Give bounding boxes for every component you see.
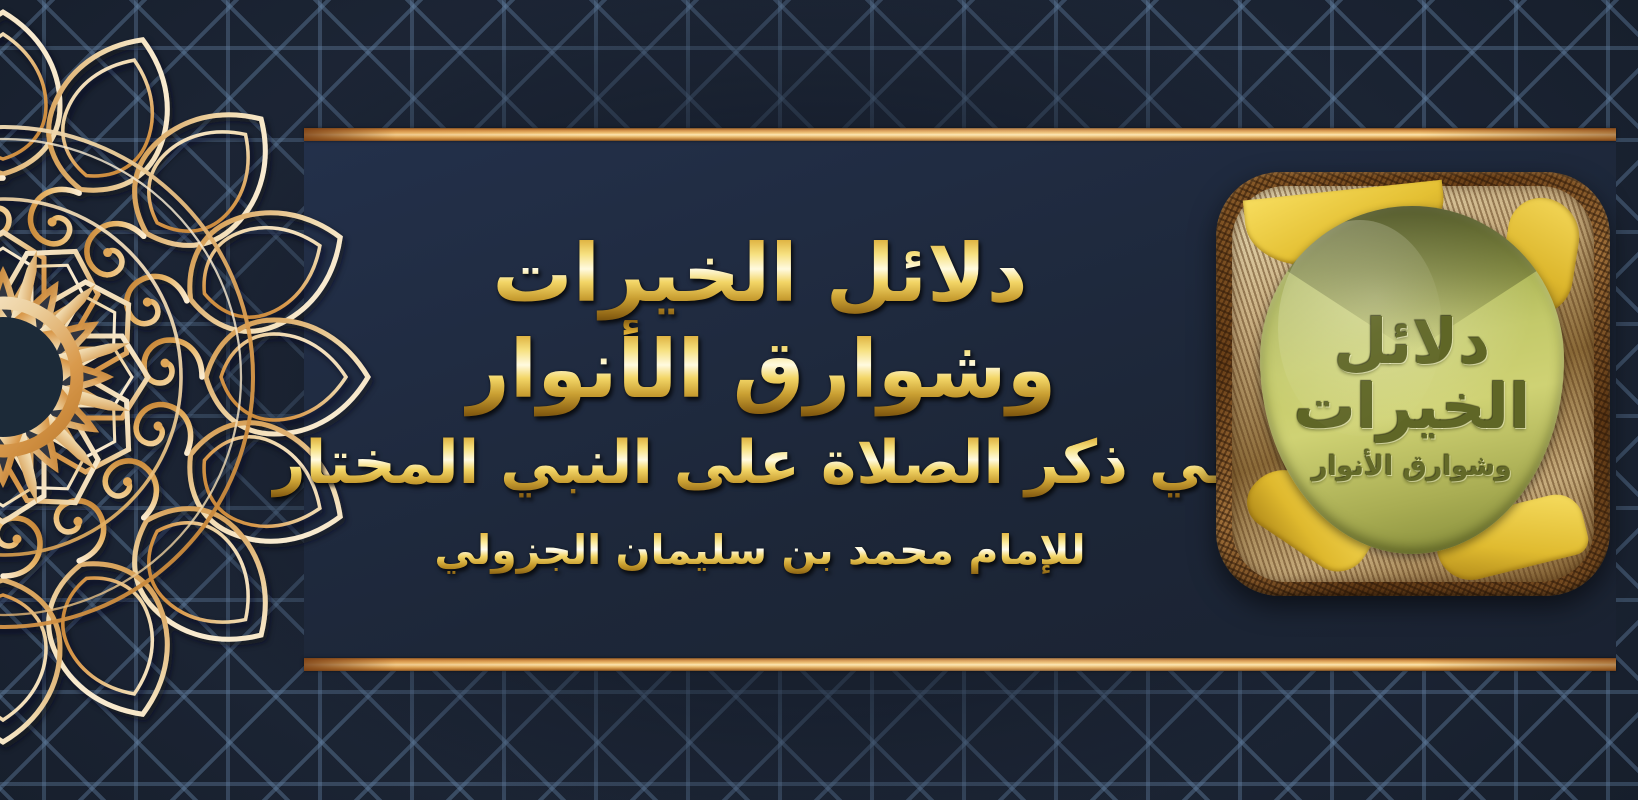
title-line-2: وشوارق الأنوار <box>464 320 1057 420</box>
icon-calligraphy-sub: وشوارق الأنوار <box>1312 453 1512 481</box>
icon-calligraphy-main: دلائل الخيرات <box>1260 309 1564 439</box>
islamic-book-banner: دلائل الخيرات وشوارق الأنوار في ذكر الصل… <box>0 0 1638 800</box>
title-line-3-subtitle: في ذكر الصلاة على النبي المختار <box>271 426 1249 501</box>
author-line: للإمام محمد بن سليمان الجزولي <box>434 525 1085 576</box>
book-cover-icon[interactable]: دلائل الخيرات وشوارق الأنوار <box>1216 172 1610 596</box>
gold-band-top <box>304 128 1616 141</box>
gold-band-bottom <box>304 658 1616 671</box>
title-line-1: دلائل الخيرات <box>492 224 1027 324</box>
title-block: دلائل الخيرات وشوارق الأنوار في ذكر الصل… <box>330 150 1190 650</box>
icon-frame-border: دلائل الخيرات وشوارق الأنوار <box>1216 172 1610 596</box>
